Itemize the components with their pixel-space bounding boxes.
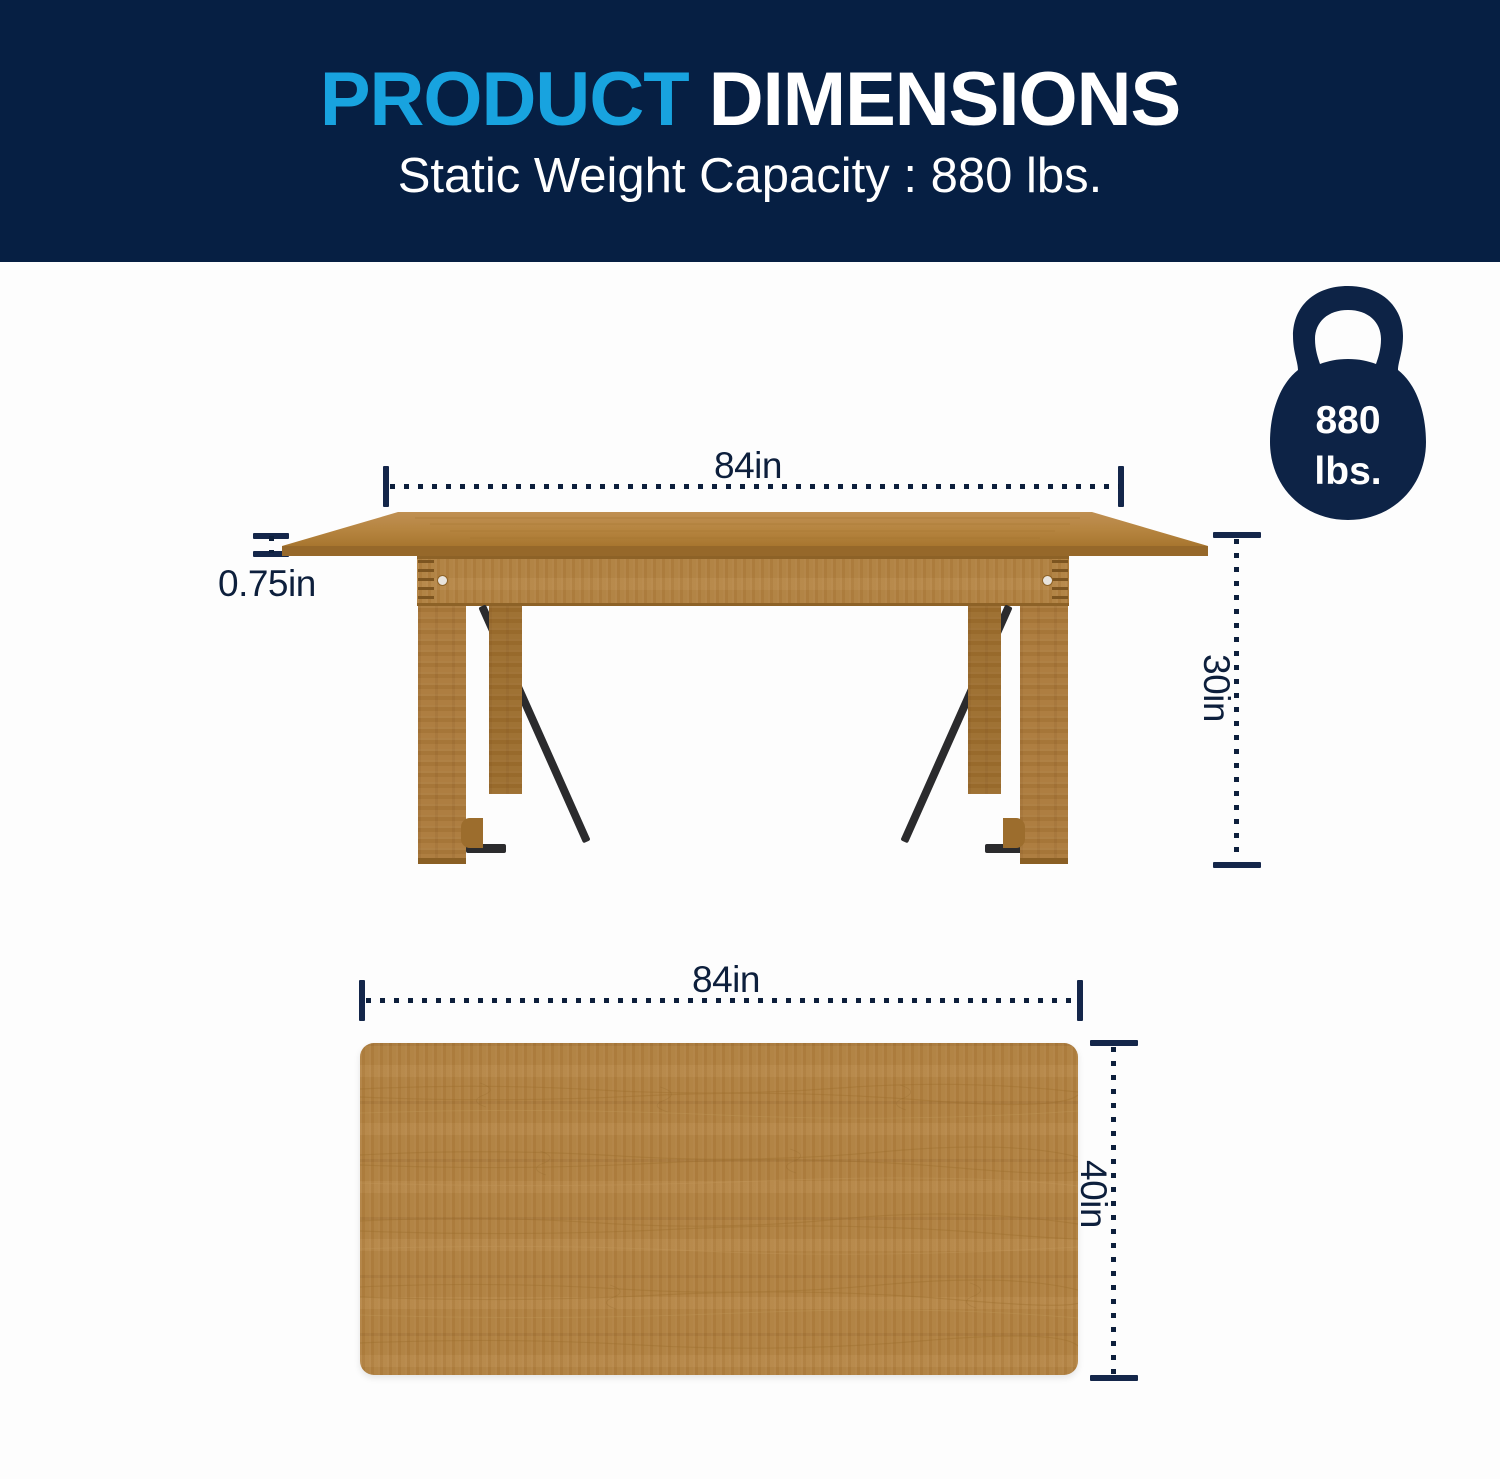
diagram-canvas: 880 lbs. 84in 0.75in 30in [0, 262, 1500, 1479]
dim-line-075in [269, 536, 274, 553]
hinge-slots-right-icon [1052, 558, 1068, 604]
table-apron-side [417, 556, 1069, 606]
brace-pad-right [1003, 818, 1025, 848]
table-leg-right-rear [968, 606, 1001, 794]
title-rest-word: DIMENSIONS [689, 57, 1181, 142]
dim-cap-bottom-40in [1090, 1375, 1138, 1381]
brace-pad-left [461, 818, 483, 848]
badge-weight-value: 880 [1268, 401, 1428, 440]
header-banner: PRODUCT DIMENSIONS Static Weight Capacit… [0, 0, 1500, 262]
leg-left-front-foot [418, 858, 466, 864]
apron-top-shadow [417, 556, 1069, 559]
dim-cap-bottom-30in [1213, 862, 1261, 868]
subtitle-weight-capacity: Static Weight Capacity : 880 lbs. [398, 152, 1103, 201]
badge-weight-unit: lbs. [1268, 452, 1428, 491]
tabletop-surface-side [280, 510, 1210, 560]
hinge-slots-left-icon [418, 558, 434, 604]
page-title: PRODUCT DIMENSIONS [320, 62, 1180, 138]
table-leg-left-rear [489, 606, 522, 794]
dim-label-075in: 0.75in [218, 563, 316, 605]
dim-cap-top-40in [1090, 1040, 1138, 1046]
table-leg-left-front [418, 606, 466, 864]
hinge-bolt-left-icon [437, 575, 448, 586]
dim-cap-left-84in-side [383, 466, 389, 507]
dim-cap-top-30in [1213, 532, 1261, 538]
dim-label-84in-side: 84in [714, 445, 782, 487]
tabletop-rect [360, 1043, 1078, 1375]
leg-right-front-foot [1020, 858, 1068, 864]
dim-label-84in-top: 84in [692, 959, 760, 1001]
dim-label-40in: 40in [1072, 1160, 1114, 1228]
title-accent-word: PRODUCT [320, 57, 689, 142]
dim-label-30in: 30in [1195, 654, 1237, 722]
dim-cap-left-84in-top [359, 980, 365, 1021]
table-leg-right-front [1020, 606, 1068, 864]
hinge-bolt-right-icon [1042, 575, 1053, 586]
tabletop-grain [360, 1043, 1078, 1375]
weight-capacity-badge: 880 lbs. [1268, 284, 1428, 522]
